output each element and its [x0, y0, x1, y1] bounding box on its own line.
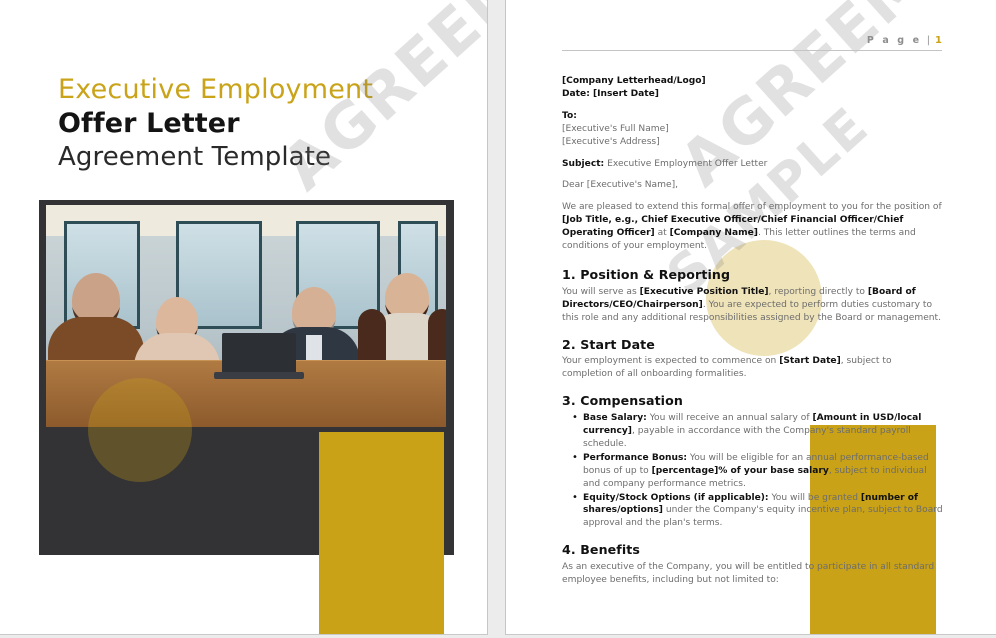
cover-photo — [46, 205, 446, 427]
cover-gold-accent-block — [319, 432, 444, 635]
salutation: Dear [Executive's Name], — [562, 179, 943, 192]
cover-title-line-3: Agreement Template — [58, 141, 458, 175]
intro-paragraph: We are pleased to extend this formal off… — [562, 201, 943, 253]
sec2-placeholder-start-date: [Start Date] — [779, 356, 841, 366]
document-workspace: Executive Employment Offer Letter Agreem… — [0, 0, 996, 638]
recipient-block: To: [Executive's Full Name] [Executive's… — [562, 110, 943, 149]
bullet-placeholder-percentage: [percentage]% of your base salary — [652, 466, 829, 476]
section-heading-benefits: 4. Benefits — [562, 541, 943, 559]
letterhead-line: [Company Letterhead/Logo] — [562, 76, 706, 86]
to-address: [Executive's Address] — [562, 136, 943, 149]
to-label: To: — [562, 111, 577, 121]
section-body-start-date: Your employment is expected to commence … — [562, 355, 943, 381]
list-item: Base Salary: You will receive an annual … — [562, 412, 943, 451]
date-line: Date: [Insert Date] — [562, 89, 659, 99]
subject-label: Subject: — [562, 159, 604, 169]
cover-title-line-1: Executive Employment — [58, 74, 458, 107]
cover-page[interactable]: Executive Employment Offer Letter Agreem… — [0, 0, 488, 635]
section-heading-position-reporting: 1. Position & Reporting — [562, 266, 943, 284]
list-item: Performance Bonus: You will be eligible … — [562, 452, 943, 491]
intro-placeholder-company: [Company Name] — [670, 228, 758, 238]
page-header: P a g e | 1 — [562, 28, 942, 51]
section-heading-compensation: 3. Compensation — [562, 392, 943, 410]
bullet-text-2: , payable in accordance with the Company… — [583, 426, 911, 449]
section-body-position-reporting: You will serve as [Executive Position Ti… — [562, 286, 943, 325]
page-label: P a g e — [867, 35, 922, 46]
letterhead-block: [Company Letterhead/Logo] Date: [Insert … — [562, 75, 943, 101]
sec2-text-1: Your employment is expected to commence … — [562, 356, 779, 366]
section-heading-start-date: 2. Start Date — [562, 336, 943, 354]
bullet-label-equity-options: Equity/Stock Options (if applicable): — [583, 493, 769, 503]
sec1-text-1: You will serve as — [562, 287, 640, 297]
bullet-text-1: You will be granted — [769, 493, 861, 503]
section-body-benefits: As an executive of the Company, you will… — [562, 561, 943, 587]
sec1-placeholder-position: [Executive Position Title] — [640, 287, 769, 297]
page-number: 1 — [935, 35, 942, 46]
cover-title-line-2: Offer Letter — [58, 107, 458, 141]
list-item: Equity/Stock Options (if applicable): Yo… — [562, 492, 943, 531]
sec1-text-2: , reporting directly to — [769, 287, 868, 297]
compensation-bullet-list: Base Salary: You will receive an annual … — [562, 412, 943, 530]
to-name: [Executive's Full Name] — [562, 123, 943, 136]
photo-laptop — [222, 333, 296, 373]
page-separator: | — [927, 35, 930, 46]
cover-title-block: Executive Employment Offer Letter Agreem… — [58, 74, 458, 174]
intro-text-2: at — [655, 228, 670, 238]
subject-value: Executive Employment Offer Letter — [607, 159, 767, 169]
bullet-label-performance-bonus: Performance Bonus: — [583, 453, 687, 463]
letter-page[interactable]: AGREEMENT SAMPLE P a g e | 1 [Company Le… — [505, 0, 996, 635]
bullet-label-base-salary: Base Salary: — [583, 413, 647, 423]
subject-block: Subject: Executive Employment Offer Lett… — [562, 158, 943, 171]
letter-body: [Company Letterhead/Logo] Date: [Insert … — [562, 75, 943, 587]
bullet-text-1: You will receive an annual salary of — [647, 413, 813, 423]
intro-text-1: We are pleased to extend this formal off… — [562, 202, 942, 212]
